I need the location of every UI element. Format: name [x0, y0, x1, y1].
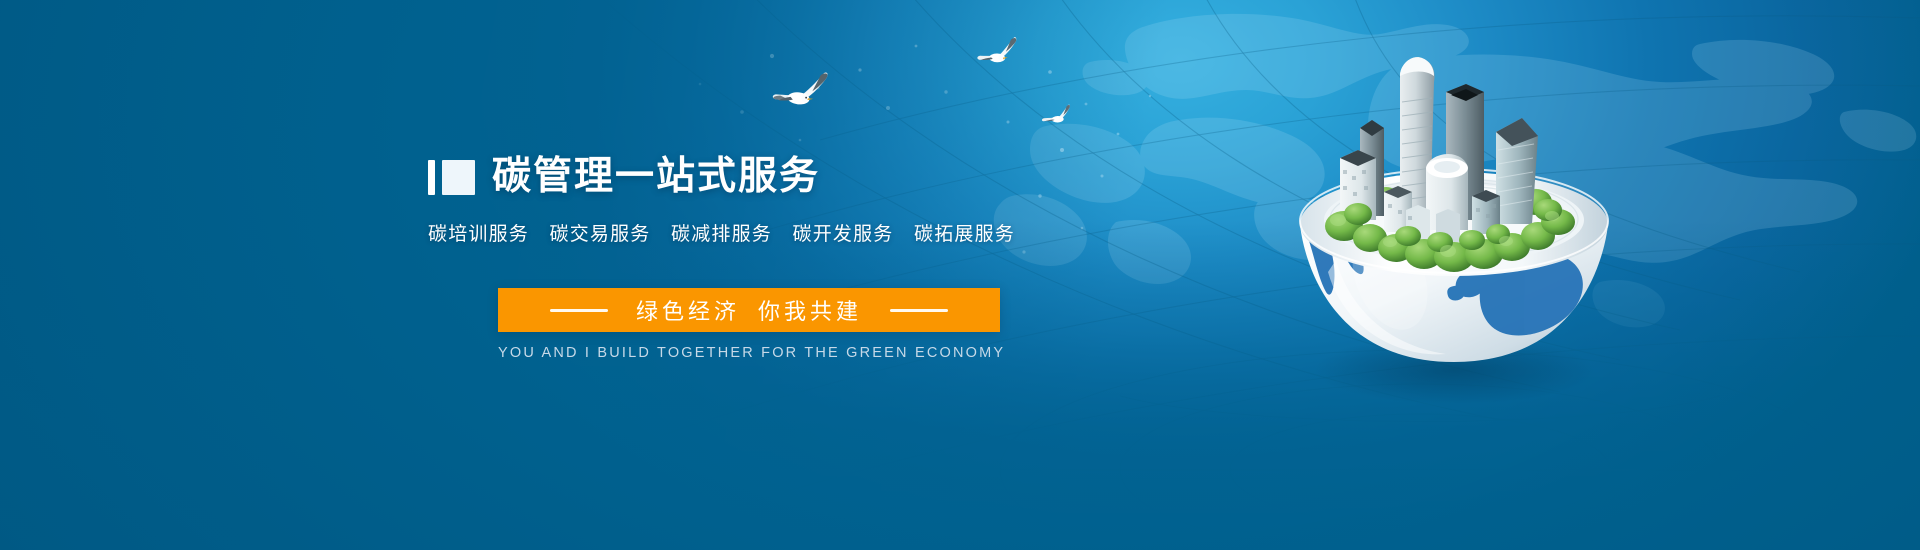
service-item-3[interactable]: 碳减排服务: [671, 224, 772, 245]
page-title: 碳管理一站式服务: [492, 157, 820, 196]
headline-row: 碳管理一站式服务: [428, 150, 1148, 202]
service-item-4[interactable]: 碳开发服务: [793, 224, 894, 245]
mark-square: [442, 160, 475, 195]
banner-copy-block: 碳管理一站式服务 碳培训服务 碳交易服务 碳减排服务 碳开发服务 碳拓展服务: [428, 150, 1148, 246]
hero-banner: 碳管理一站式服务 碳培训服务 碳交易服务 碳减排服务 碳开发服务 碳拓展服务 绿…: [0, 0, 1920, 550]
service-list: 碳培训服务 碳交易服务 碳减排服务 碳开发服务 碳拓展服务: [428, 219, 1148, 246]
slogan-rule-left: [550, 309, 608, 312]
service-item-5[interactable]: 碳拓展服务: [914, 224, 1015, 245]
mark-bar: [428, 160, 435, 195]
slogan-banner[interactable]: 绿色经济你我共建: [498, 288, 1000, 332]
slogan-rule-right: [890, 309, 948, 312]
service-item-1[interactable]: 碳培训服务: [428, 224, 529, 245]
english-tagline: YOU AND I BUILD TOGETHER FOR THE GREEN E…: [498, 345, 1000, 361]
slogan-primary: 绿色经济: [636, 299, 740, 324]
slogan-text: 绿色经济你我共建: [636, 294, 862, 326]
vignette-overlay: [0, 0, 1920, 550]
service-item-2[interactable]: 碳交易服务: [550, 224, 651, 245]
bar-and-square-mark-icon: [428, 160, 475, 195]
slogan-secondary: 你我共建: [758, 299, 862, 324]
